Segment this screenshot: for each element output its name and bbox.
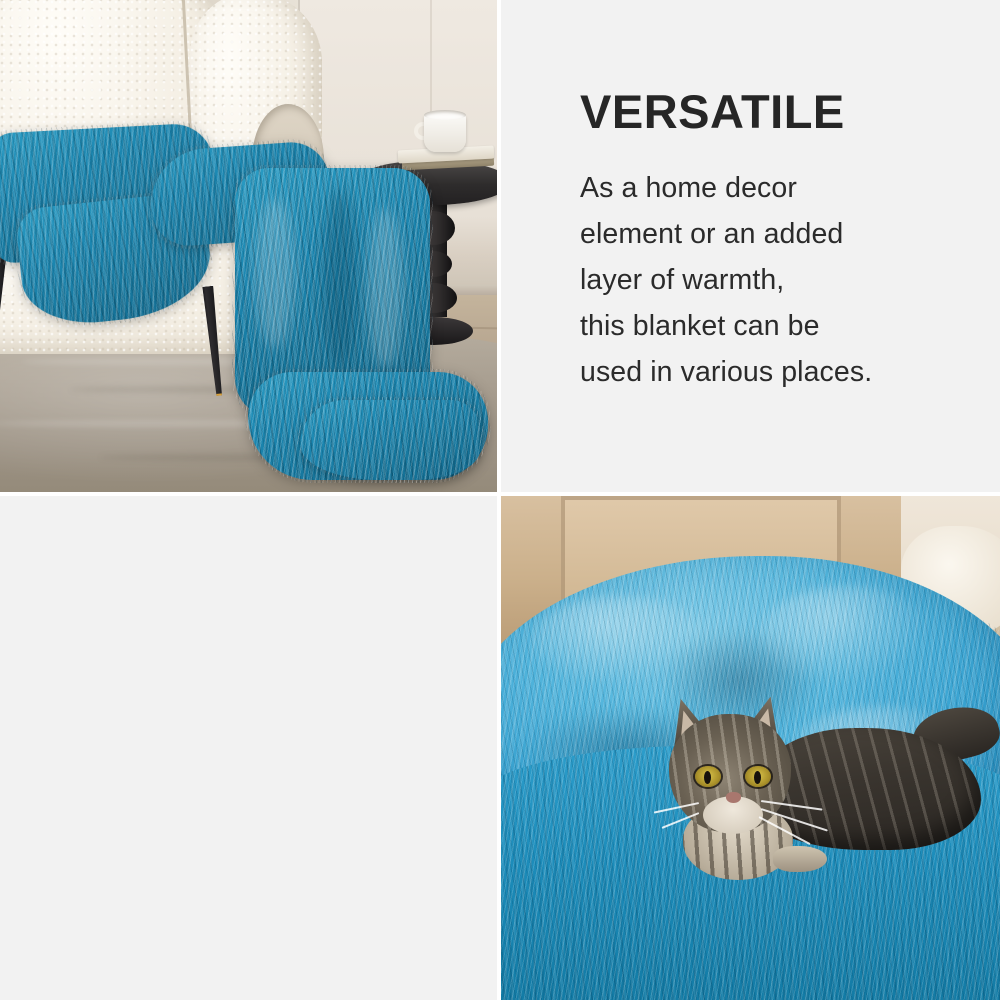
- collage-gutter-vertical: [497, 0, 501, 1000]
- armchair-with-teal-throw-photo: [0, 0, 497, 492]
- throw-shadow: [323, 188, 357, 368]
- throw-highlight: [255, 198, 295, 348]
- versatile-body-line: As a home decor: [580, 165, 980, 211]
- cat-on-teal-blanket-photo: [501, 496, 1000, 1000]
- collage-gutter-horizontal: [0, 492, 1000, 496]
- cat-pupil: [754, 771, 761, 784]
- panel-cat-photo: [501, 496, 1000, 1000]
- tabby-cat: [661, 696, 981, 896]
- cat-nose: [726, 792, 741, 803]
- fur-texture: [297, 397, 483, 483]
- panel-durable-text: DURABLE The premium material extended us…: [0, 496, 497, 1000]
- panel-lifestyle-photo: [0, 0, 497, 492]
- cat-whisker: [654, 802, 699, 814]
- cat-pupil: [704, 771, 711, 784]
- cat-head: [669, 714, 791, 832]
- teal-throw-blanket: [300, 400, 480, 480]
- mug-rim: [424, 110, 466, 120]
- versatile-body-line: used in various places.: [580, 349, 980, 395]
- versatile-body-line: this blanket can be: [580, 303, 980, 349]
- versatile-heading: VERSATILE: [580, 88, 980, 135]
- versatile-body-line: layer of warmth,: [580, 257, 980, 303]
- versatile-text-block: VERSATILE As a home decor element or an …: [580, 88, 980, 395]
- cat-eye-right: [745, 766, 771, 787]
- blanket-fold: [761, 586, 931, 686]
- product-feature-collage: VERSATILE As a home decor element or an …: [0, 0, 1000, 1000]
- cat-eye-left: [695, 766, 721, 787]
- cat-paw: [773, 846, 827, 872]
- panel-versatile-text: VERSATILE As a home decor element or an …: [501, 0, 1000, 492]
- throw-highlight: [367, 208, 403, 368]
- versatile-body: As a home decor element or an added laye…: [580, 165, 980, 395]
- versatile-body-line: element or an added: [580, 211, 980, 257]
